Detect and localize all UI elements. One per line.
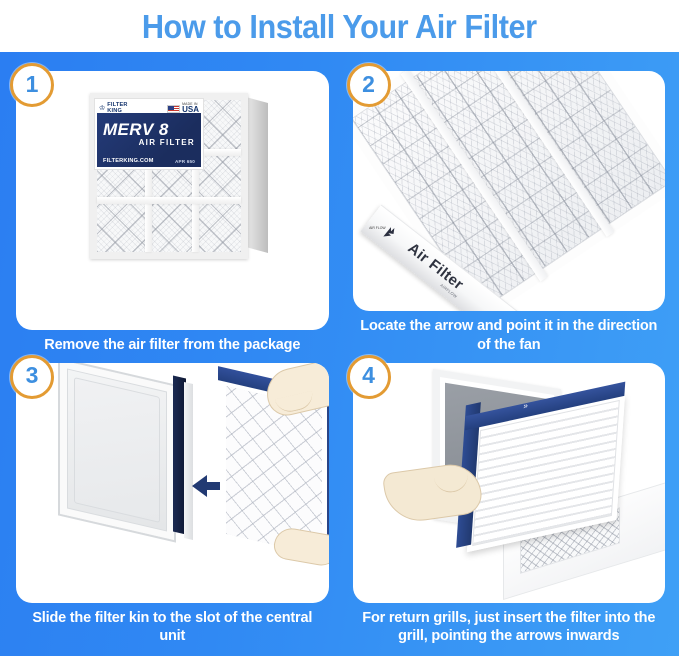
filter-pleated-body (353, 71, 666, 311)
filter-pleat-media (353, 71, 666, 311)
infographic-body: ♔ FILTER KING (0, 52, 679, 656)
step-4-caption: For return grills, just insert the filte… (353, 603, 666, 646)
usa-flag-icon (167, 105, 180, 113)
step-4: » 4 For return grills, just insert the f… (353, 363, 666, 647)
step-1-caption: Remove the air filter from the package (16, 330, 329, 355)
step-1-illustration: ♔ FILTER KING (16, 71, 329, 330)
page-header: How to Install Your Air Filter (0, 0, 679, 52)
step-2-number: 2 (362, 73, 375, 96)
filter-product-label: ♔ FILTER KING (94, 98, 204, 170)
step-3-caption: Slide the filter kin to the slot of the … (16, 603, 329, 646)
airflow-arrow-label: AIR FLOW (369, 226, 385, 230)
filter-slot-lip (184, 381, 193, 539)
merv-rating: MERV 8 (103, 121, 195, 138)
unit-inner-panel (74, 377, 160, 523)
step-1-number-badge: 1 (10, 63, 54, 107)
step-3-illustration: » (16, 363, 329, 603)
step-3-image-card: » (16, 363, 329, 603)
step-4-image-card: » (353, 363, 666, 603)
step-3-number-badge: 3 (10, 355, 54, 399)
step-3-number: 3 (26, 364, 39, 387)
brand-website: FILTERKING.COM (103, 158, 154, 164)
step-4-number: 4 (362, 364, 375, 387)
steps-grid: ♔ FILTER KING (0, 52, 679, 656)
step-4-illustration: » (353, 363, 666, 603)
step-1: ♔ FILTER KING (16, 71, 329, 355)
step-2-caption: Locate the arrow and point it in the dir… (353, 311, 666, 354)
filter-direction-arrows: » (258, 365, 263, 374)
page-title: How to Install Your Air Filter (142, 10, 537, 43)
step-2: AIR FLOW Air Filter AIRFLOW 2 Locate the… (353, 71, 666, 355)
apr-code: APR 650 (175, 159, 195, 164)
step-4-number-badge: 4 (347, 355, 391, 399)
step-2-image-card: AIR FLOW Air Filter AIRFLOW (353, 71, 666, 311)
step-1-number: 1 (26, 73, 39, 96)
label-navy-panel: MERV 8 AIR FILTER FILTERKING.COM APR 650 (97, 113, 201, 167)
filter-front-face: ♔ FILTER KING (90, 93, 248, 259)
product-type: AIR FILTER (103, 139, 195, 147)
filter-direction-arrows: » (523, 401, 529, 410)
filter-crossbar (97, 197, 241, 204)
air-filter-product: ♔ FILTER KING (90, 93, 268, 263)
step-2-number-badge: 2 (347, 63, 391, 107)
crown-icon: ♔ (99, 105, 105, 112)
step-1-image-card: ♔ FILTER KING (16, 71, 329, 330)
filter-depth-side (246, 97, 268, 253)
hvac-central-unit (58, 363, 176, 543)
step-2-illustration: AIR FLOW Air Filter AIRFLOW (353, 71, 666, 311)
step-3: » 3 Slide the filter kin to the slot of … (16, 363, 329, 647)
